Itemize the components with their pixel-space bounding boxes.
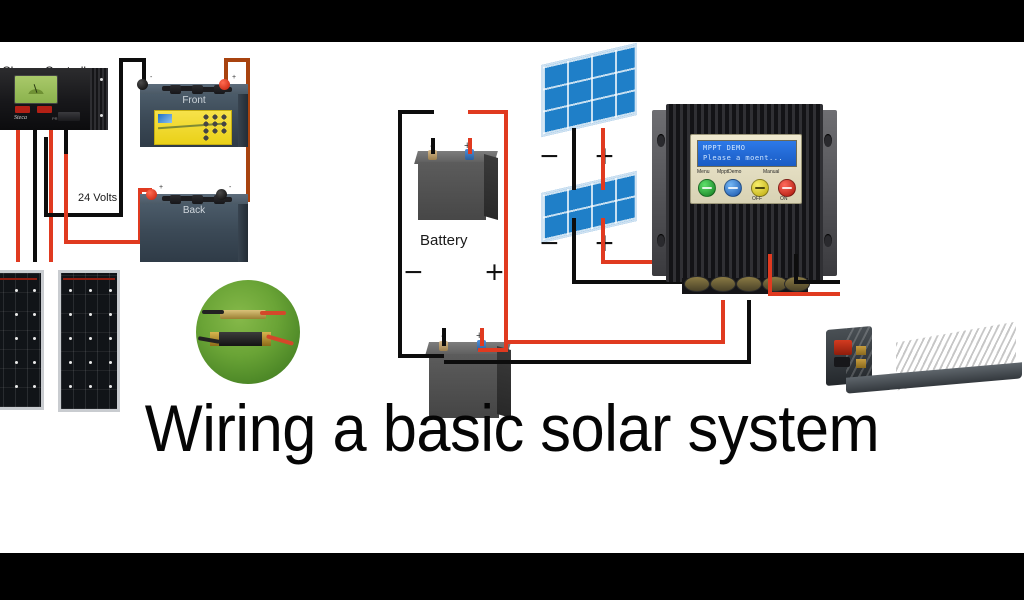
cell-dot bbox=[89, 313, 92, 316]
mppt-mount-hole-bottom-right bbox=[824, 234, 832, 247]
bank-pos-right-vert bbox=[504, 110, 508, 352]
cc-to-front-neg-vert-right bbox=[119, 58, 123, 216]
mppt-terminal-1 bbox=[684, 276, 710, 292]
page-title: Wiring a basic solar system bbox=[36, 390, 988, 466]
charge-controller-button-left[interactable] bbox=[15, 106, 30, 113]
cell-dot bbox=[33, 385, 36, 388]
cell-dot bbox=[15, 361, 18, 364]
charge-controller: Steca PR 3030 bbox=[0, 68, 108, 130]
mppt-button-label-mpptdemo: MpptDemo bbox=[717, 169, 741, 175]
battery-front-vent-cap-1 bbox=[170, 85, 181, 94]
bank-to-mppt-red-horiz bbox=[504, 340, 725, 344]
battery-front: Front bbox=[140, 84, 248, 147]
battery-front-negative-sign: - bbox=[150, 74, 152, 81]
inverter-positive-terminal bbox=[834, 340, 852, 355]
mppt-button-mpptdemo-marker bbox=[728, 187, 738, 189]
bank-to-mppt-black-horiz bbox=[444, 360, 751, 364]
panel-lower-neg-lead bbox=[572, 218, 576, 284]
cell-dot bbox=[33, 337, 36, 340]
mppt-mount-hole-top-right bbox=[824, 134, 832, 147]
cell-dot bbox=[89, 289, 92, 292]
letterbox-bar-top bbox=[0, 0, 1024, 42]
mppt-lcd-line-2: Please a moent... bbox=[703, 154, 783, 162]
cell-dot bbox=[69, 313, 72, 316]
battery-back-positive-terminal bbox=[146, 189, 157, 200]
cc-to-front-neg-vert-left bbox=[44, 137, 48, 217]
cc-run-black-panelA bbox=[33, 154, 37, 262]
battery-back-vent-cap-1 bbox=[170, 195, 181, 204]
battery-front-sticker bbox=[154, 110, 232, 145]
battery-bank-label: Battery bbox=[420, 232, 468, 249]
mppt-mount-hole-bottom-left bbox=[657, 234, 665, 247]
cell-dot bbox=[89, 337, 92, 340]
bank-pos-top-horiz bbox=[468, 110, 508, 114]
mppt-button-manual-off-marker bbox=[755, 187, 765, 189]
cell-dot bbox=[109, 361, 112, 364]
battery-front-warning-icons bbox=[201, 113, 229, 142]
panel-upper-negative-sign: − bbox=[539, 141, 560, 170]
battery-bank-positive-sign: + bbox=[484, 257, 505, 286]
mppt-button-sub-on: ON bbox=[780, 196, 788, 202]
bank-neg-top-horiz bbox=[398, 110, 434, 114]
mppt-terminal-2 bbox=[710, 276, 736, 292]
cell-dot bbox=[69, 337, 72, 340]
cell-dot bbox=[109, 313, 112, 316]
inverter bbox=[826, 310, 1022, 400]
panel-upper-neg-lead bbox=[572, 128, 576, 190]
mppt-button-label-manual: Manual bbox=[763, 169, 779, 175]
cell-dot bbox=[15, 385, 18, 388]
cc-to-back-pos-horiz bbox=[64, 240, 142, 244]
mppt-load-black-horiz bbox=[794, 280, 840, 284]
inverter-lug-2 bbox=[856, 359, 866, 368]
fuse-connector-photo bbox=[196, 280, 300, 384]
cell-dot bbox=[69, 385, 72, 388]
cell-dot bbox=[15, 337, 18, 340]
cc-run-red-panelA bbox=[16, 154, 20, 262]
cell-dot bbox=[33, 313, 36, 316]
solar-panel-dark-2-busbar bbox=[63, 278, 115, 280]
mppt-front-panel: MPPT DEMO Please a moent... Menu MpptDem… bbox=[690, 134, 802, 204]
bank-pos-bottom-horiz bbox=[478, 348, 508, 352]
battery-front-negative-terminal bbox=[137, 79, 148, 90]
letterbox-bar-bottom bbox=[0, 553, 1024, 600]
fuse-body-lower bbox=[218, 332, 268, 346]
cell-dot bbox=[109, 337, 112, 340]
battery-upper-pos-stub bbox=[468, 138, 472, 154]
inverter-negative-terminal bbox=[834, 357, 850, 367]
voltage-note: 24 Volts bbox=[78, 192, 117, 204]
panel-lower-pos-lead bbox=[601, 218, 605, 264]
charge-controller-brand: Steca bbox=[14, 115, 27, 121]
cc-to-front-neg-horiz bbox=[44, 213, 123, 217]
mppt-button-menu-marker bbox=[702, 187, 712, 189]
cc-to-back-pos-vert bbox=[64, 154, 68, 244]
battery-front-positive-terminal bbox=[219, 79, 230, 90]
cell-dot bbox=[89, 385, 92, 388]
panel-lower-negative-sign: − bbox=[539, 228, 560, 257]
cell-dot bbox=[33, 361, 36, 364]
mppt-button-manual-off[interactable] bbox=[751, 179, 769, 197]
panel-upper-pos-lead bbox=[601, 128, 605, 190]
battery-lower-pos-stub bbox=[480, 328, 484, 346]
solar-panel-blue-upper bbox=[541, 43, 637, 137]
mppt-button-sub-off: OFF bbox=[752, 196, 762, 202]
fuse-red-wire-upper bbox=[260, 311, 286, 315]
bank-neg-bottom-horiz bbox=[398, 354, 444, 358]
mppt-button-manual-on-marker bbox=[782, 187, 792, 189]
battery-back-label: Back bbox=[140, 205, 248, 216]
solar-panel-dark-1-busbar bbox=[0, 278, 37, 280]
cell-dot bbox=[69, 361, 72, 364]
diagram-canvas: Charge Controller Steca PR 3030 bbox=[0, 42, 1024, 553]
fuse-black-wire-upper bbox=[202, 310, 224, 314]
battery-front-positive-sign: + bbox=[232, 74, 236, 81]
solar-panel-dark-1-cells bbox=[0, 273, 41, 407]
fuse-body-upper bbox=[220, 310, 266, 319]
cell-dot bbox=[33, 289, 36, 292]
bank-neg-left-vert bbox=[398, 110, 402, 358]
charge-controller-screw-bottom bbox=[100, 114, 103, 117]
charge-controller-gauge-icon bbox=[19, 82, 53, 94]
solar-panel-dark-1 bbox=[0, 270, 44, 410]
battery-bank-negative-sign: − bbox=[403, 257, 424, 286]
cell-dot bbox=[15, 313, 18, 316]
inverter-lug-1 bbox=[856, 346, 866, 355]
cell-dot bbox=[69, 289, 72, 292]
battery-upper-body bbox=[418, 162, 486, 220]
battery-back-negative-sign: - bbox=[229, 184, 231, 191]
mppt-terminal-3 bbox=[736, 276, 762, 292]
mppt-lcd-line-1: MPPT DEMO bbox=[703, 144, 745, 152]
mppt-load-red-horiz bbox=[768, 292, 840, 296]
mppt-button-label-menu: Menu bbox=[697, 169, 710, 175]
battery-front-sticker-logo bbox=[158, 114, 172, 123]
battery-lower-neg-stub bbox=[442, 328, 446, 346]
battery-front-vent-cap-2 bbox=[192, 85, 203, 94]
charge-controller-screw-top bbox=[100, 78, 103, 81]
mppt-lcd-display: MPPT DEMO Please a moent... bbox=[697, 140, 797, 167]
mppt-button-menu[interactable] bbox=[698, 179, 716, 197]
solar-panel-dark-2-cells bbox=[61, 273, 117, 409]
charge-controller-button-right[interactable] bbox=[37, 106, 52, 113]
battery-upper-side bbox=[484, 154, 498, 220]
battery-upper-neg-stub bbox=[431, 138, 435, 154]
charge-controller-display bbox=[14, 75, 58, 104]
mppt-button-mpptdemo[interactable] bbox=[724, 179, 742, 197]
cell-dot bbox=[89, 361, 92, 364]
cell-dot bbox=[109, 289, 112, 292]
battery-back-vent-cap-2 bbox=[192, 195, 203, 204]
screenshot-stage: Charge Controller Steca PR 3030 bbox=[0, 0, 1024, 600]
bank-to-mppt-black-vert bbox=[747, 300, 751, 364]
charge-controller-terminal-block bbox=[58, 112, 80, 121]
battery-upper bbox=[416, 151, 504, 223]
cell-dot bbox=[15, 289, 18, 292]
battery-back-negative-terminal bbox=[216, 189, 227, 200]
battery-front-label: Front bbox=[140, 95, 248, 106]
mppt-charge-controller: MPPT DEMO Please a moent... Menu MpptDem… bbox=[652, 104, 837, 292]
cell-dot bbox=[109, 385, 112, 388]
charge-controller-heatsink bbox=[90, 68, 108, 130]
bank-to-mppt-red-vert bbox=[721, 300, 725, 344]
mppt-load-red-vert bbox=[768, 254, 772, 296]
mppt-button-manual-on[interactable] bbox=[778, 179, 796, 197]
battery-back-positive-sign: + bbox=[159, 184, 163, 191]
battery-back: Back bbox=[140, 194, 248, 262]
mppt-mount-hole-top-left bbox=[657, 134, 665, 147]
cc-run-red-panelB bbox=[49, 154, 53, 262]
